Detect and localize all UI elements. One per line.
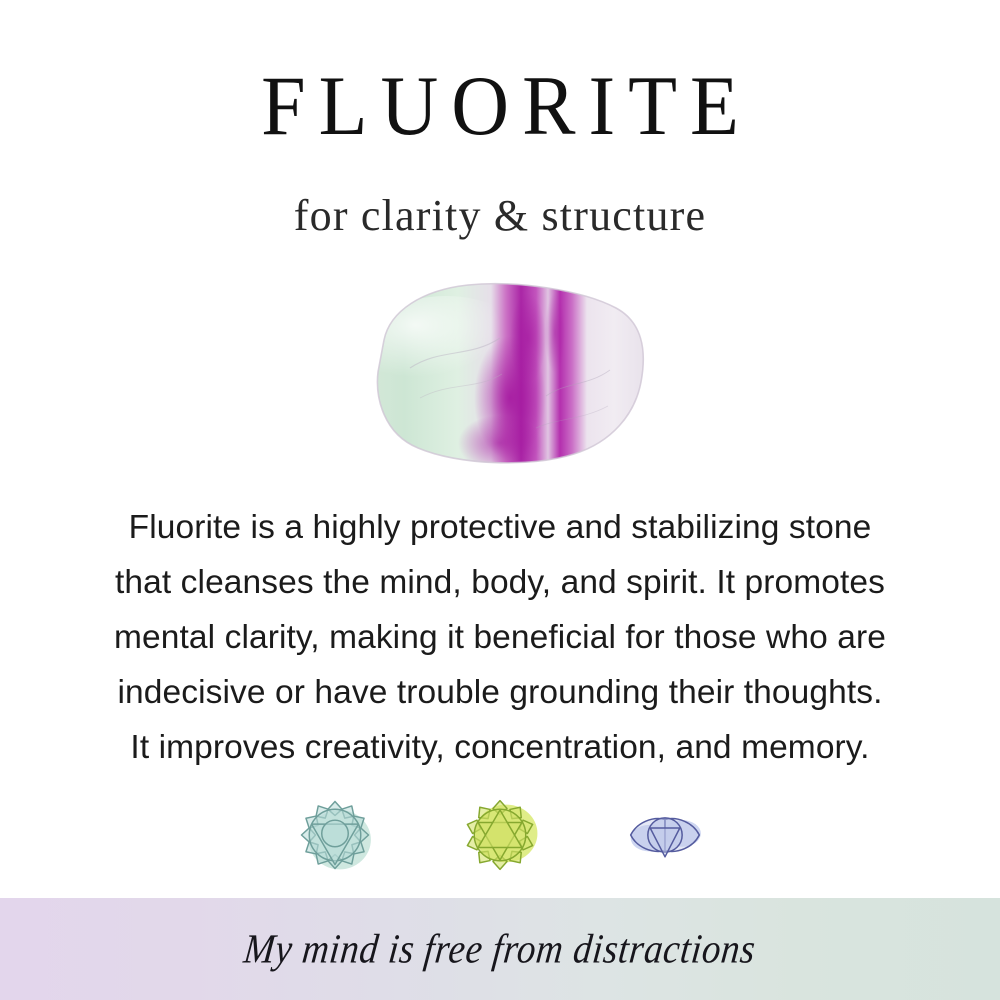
description-block: Fluorite is a highly protective and stab… <box>80 500 920 775</box>
third-eye-chakra-icon <box>625 796 705 874</box>
page-title: FLUORITE <box>0 62 1000 151</box>
solar-plexus-chakra-icon <box>460 796 540 874</box>
page-subtitle: for clarity & structure <box>0 146 1000 241</box>
affirmation-banner: My mind is free from distractions <box>0 898 1000 1000</box>
description-line: that cleanses the mind, body, and spirit… <box>80 555 920 610</box>
header-block: FLUORITE for clarity & structure <box>0 62 1000 241</box>
fluorite-stone-icon <box>350 278 650 468</box>
description-line: indecisive or have trouble grounding the… <box>80 665 920 720</box>
stone-image-container <box>0 278 1000 473</box>
description-line: mental clarity, making it beneficial for… <box>80 610 920 665</box>
heart-chakra-icon <box>295 796 375 874</box>
affirmation-text: My mind is free from distractions <box>242 925 758 973</box>
description-line: Fluorite is a highly protective and stab… <box>80 500 920 555</box>
crystal-info-card: FLUORITE for clarity & structure <box>0 0 1000 1000</box>
chakra-row <box>0 795 1000 875</box>
description-line: It improves creativity, concentration, a… <box>80 720 920 775</box>
